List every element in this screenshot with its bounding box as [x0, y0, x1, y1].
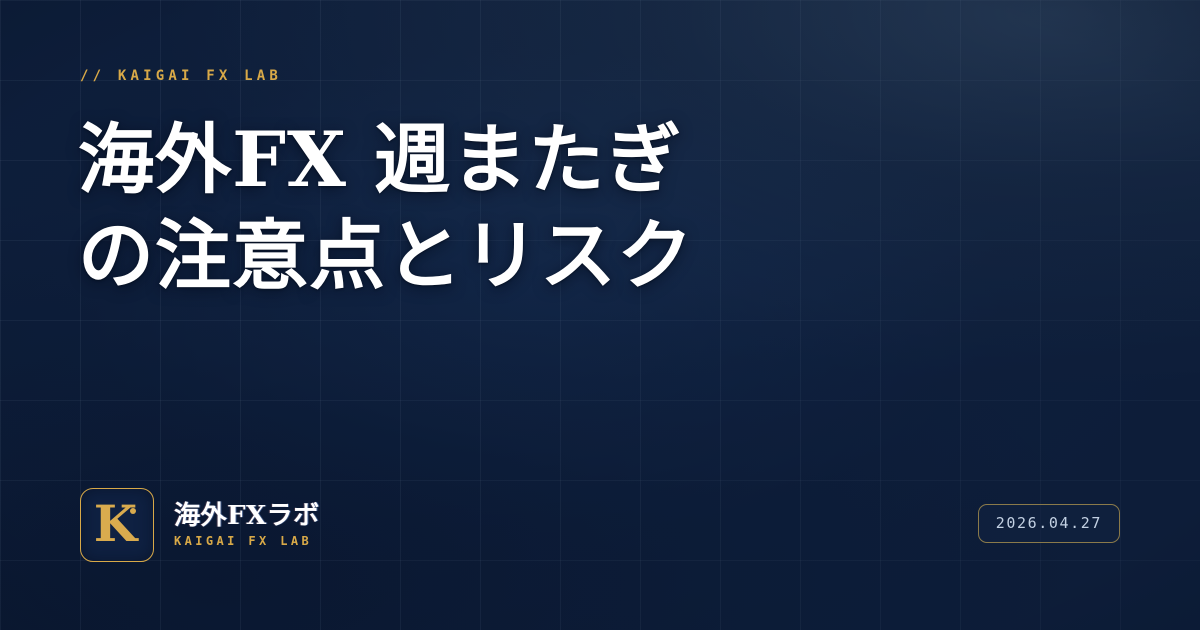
brand-name-jp: 海外FXラボ [174, 502, 320, 531]
brand-text-block: 海外FXラボ KAIGAI FX LAB [174, 502, 320, 548]
content-layer: // KAIGAI FX LAB 海外FX 週またぎ の注意点とリスク K 海外… [0, 0, 1200, 630]
logo-letter: K [94, 499, 137, 549]
page-title-line-1: 海外FX 週またぎ [78, 112, 1078, 208]
eyebrow-label: // KAIGAI FX LAB [80, 68, 282, 84]
brand-lockup: K 海外FXラボ KAIGAI FX LAB [80, 488, 320, 562]
brand-name-en: KAIGAI FX LAB [174, 534, 320, 548]
gold-dot-icon [130, 508, 136, 514]
ogp-banner: // KAIGAI FX LAB 海外FX 週またぎ の注意点とリスク K 海外… [0, 0, 1200, 630]
page-title-line-2: の注意点とリスク [78, 208, 1078, 304]
page-title: 海外FX 週またぎ の注意点とリスク [78, 112, 1078, 304]
date-badge: 2026.04.27 [978, 504, 1120, 543]
logo-mark-icon: K [80, 488, 154, 562]
